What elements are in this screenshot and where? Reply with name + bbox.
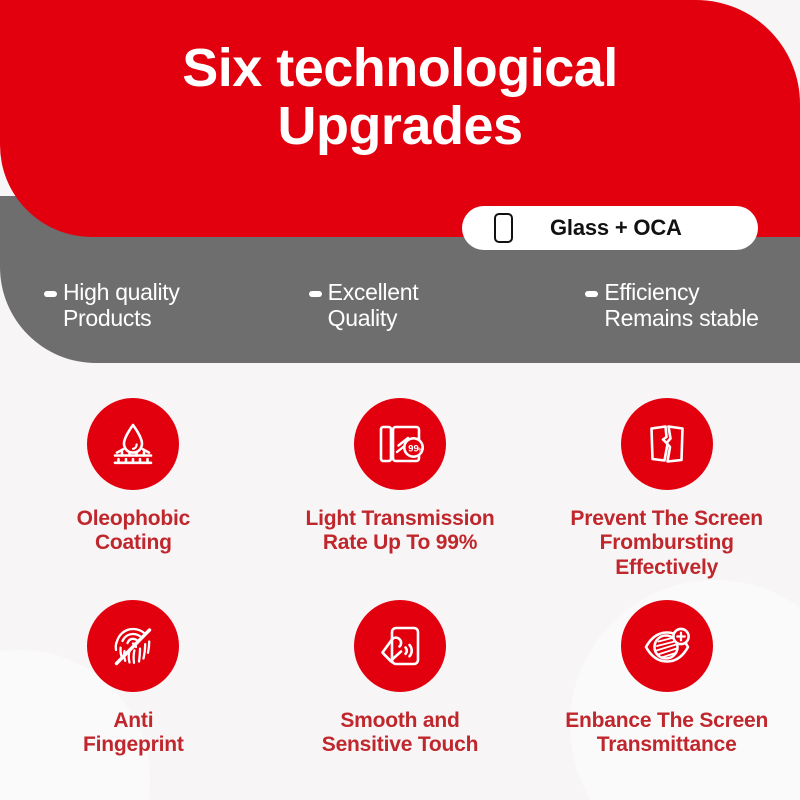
feature-label-anti-fingerprint: Anti Fingeprint bbox=[83, 709, 184, 758]
feature-cell-sensitive-touch: Smooth and Sensitive Touch bbox=[267, 600, 534, 758]
feature-label-line: Enbance The Screen bbox=[565, 709, 768, 733]
bullet-feature-list: High quality Products Excellent Quality … bbox=[0, 280, 800, 350]
glass-oca-badge: Glass + OCA bbox=[462, 206, 758, 250]
feature-label-light-transmission: Light Transmission Rate Up To 99% bbox=[306, 507, 495, 556]
page-title: Six technological Upgrades bbox=[0, 40, 800, 156]
feature-label-line: Effectively bbox=[570, 556, 763, 580]
feature-label-line: Transmittance bbox=[565, 733, 768, 757]
feature-label-prevent-bursting: Prevent The Screen Frombursting Effectiv… bbox=[570, 507, 763, 580]
feature-label-line: Prevent The Screen bbox=[570, 507, 763, 531]
feature-grid-row-1: Oleophobic Coating 99 % bbox=[0, 398, 800, 580]
feature-label-line: Sensitive Touch bbox=[322, 733, 478, 757]
water-droplet-coating-icon bbox=[87, 398, 179, 490]
bullet-item-excellent-quality: Excellent Quality bbox=[259, 280, 524, 350]
bullet-line-2: Remains stable bbox=[604, 306, 758, 332]
finger-touch-screen-icon bbox=[354, 600, 446, 692]
bullet-line-1: Excellent bbox=[328, 279, 419, 305]
feature-label-line: Rate Up To 99% bbox=[306, 531, 495, 555]
bullet-line-1: Efficiency bbox=[604, 279, 699, 305]
feature-grid-row-2: Anti Fingeprint Smooth and bbox=[0, 600, 800, 758]
feature-label-line: Oleophobic bbox=[77, 507, 191, 531]
no-fingerprint-icon bbox=[87, 600, 179, 692]
feature-cell-enhance-transmittance: Enbance The Screen Transmittance bbox=[533, 600, 800, 758]
infographic-poster: Six technological Upgrades Glass + OCA H… bbox=[0, 0, 800, 800]
bullet-line-2: Quality bbox=[328, 306, 419, 332]
bullet-dash-icon bbox=[309, 291, 322, 297]
feature-cell-oleophobic-coating: Oleophobic Coating bbox=[0, 398, 267, 580]
feature-cell-prevent-bursting: Prevent The Screen Frombursting Effectiv… bbox=[533, 398, 800, 580]
feature-label-line: Anti bbox=[83, 709, 184, 733]
bullet-line-2: Products bbox=[63, 306, 180, 332]
feature-label-enhance-transmittance: Enbance The Screen Transmittance bbox=[565, 709, 768, 758]
bullet-item-label: High quality Products bbox=[63, 280, 180, 332]
feature-grid: Oleophobic Coating 99 % bbox=[0, 398, 800, 758]
bullet-dash-icon bbox=[44, 291, 57, 297]
feature-label-line: Frombursting bbox=[570, 531, 763, 555]
feature-cell-anti-fingerprint: Anti Fingeprint bbox=[0, 600, 267, 758]
page-title-line-2: Upgrades bbox=[0, 98, 800, 156]
feature-cell-light-transmission: 99 % Light Transmission Rate Up To 99% bbox=[267, 398, 534, 580]
eye-protection-plus-icon bbox=[621, 600, 713, 692]
feature-label-line: Smooth and bbox=[322, 709, 478, 733]
bullet-item-efficiency-remains-stable: Efficiency Remains stable bbox=[523, 280, 800, 350]
bullet-line-1: High quality bbox=[63, 279, 180, 305]
page-title-line-1: Six technological bbox=[182, 38, 618, 98]
feature-label-oleophobic-coating: Oleophobic Coating bbox=[77, 507, 191, 556]
feature-label-sensitive-touch: Smooth and Sensitive Touch bbox=[322, 709, 478, 758]
bullet-item-label: Efficiency Remains stable bbox=[604, 280, 758, 332]
bullet-dash-icon bbox=[585, 291, 598, 297]
feature-label-line: Coating bbox=[77, 531, 191, 555]
bullet-item-label: Excellent Quality bbox=[328, 280, 419, 332]
feature-label-line: Light Transmission bbox=[306, 507, 495, 531]
glass-oca-badge-label: Glass + OCA bbox=[550, 215, 682, 241]
cracked-screen-icon bbox=[621, 398, 713, 490]
bullet-item-high-quality-products: High quality Products bbox=[0, 280, 259, 350]
svg-text:%: % bbox=[418, 447, 423, 453]
light-transmission-99-icon: 99 % bbox=[354, 398, 446, 490]
phone-outline-icon bbox=[494, 213, 513, 243]
feature-label-line: Fingeprint bbox=[83, 733, 184, 757]
